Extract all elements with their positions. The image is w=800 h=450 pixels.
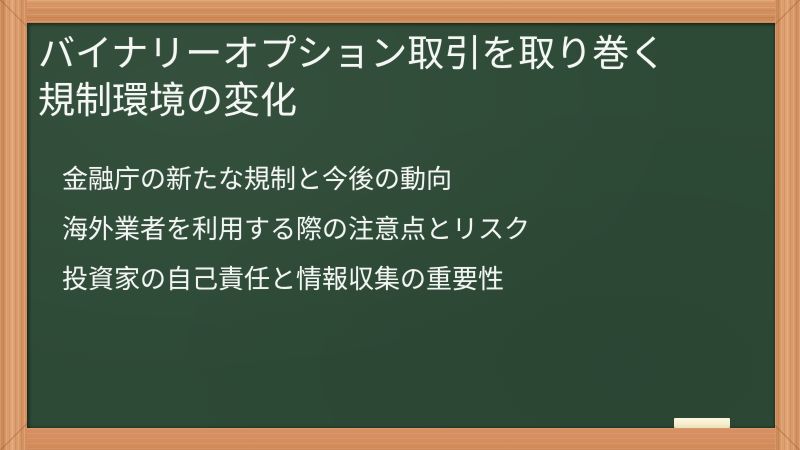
chalkboard-surface: バイナリーオプション取引を取り巻く 規制環境の変化 金融庁の新たな規制と今後の動…: [27, 23, 775, 428]
slide-bullet-list: 金融庁の新たな規制と今後の動向 海外業者を利用する際の注意点とリスク 投資家の自…: [62, 154, 752, 304]
frame-top-rail: [0, 0, 800, 23]
chalkboard-slide: バイナリーオプション取引を取り巻く 規制環境の変化 金融庁の新たな規制と今後の動…: [0, 0, 800, 450]
frame-right-stile: [775, 0, 800, 450]
chalk-stick: [674, 418, 730, 428]
frame-bottom-rail: [0, 428, 800, 450]
list-item: 金融庁の新たな規制と今後の動向: [62, 154, 752, 204]
list-item: 海外業者を利用する際の注意点とリスク: [62, 204, 752, 254]
frame-left-stile: [0, 0, 27, 450]
slide-title: バイナリーオプション取引を取り巻く 規制環境の変化: [38, 30, 758, 124]
list-item: 投資家の自己責任と情報収集の重要性: [62, 254, 752, 304]
